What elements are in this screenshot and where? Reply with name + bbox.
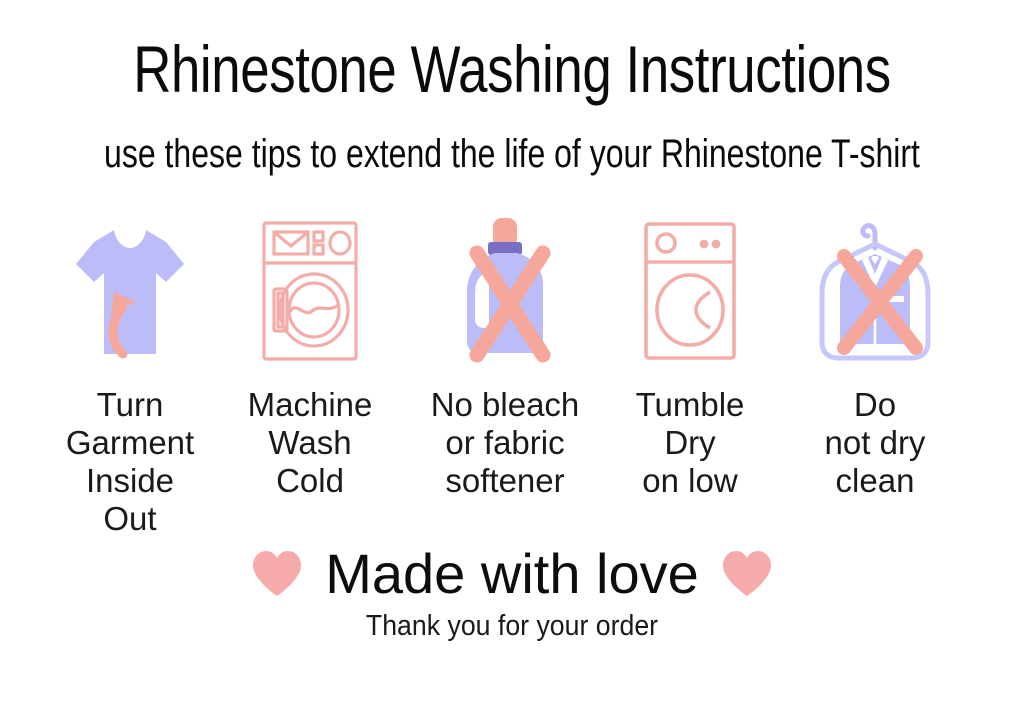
icon-cell-no-bleach (420, 208, 590, 373)
icon-cell-tumble-dry (605, 208, 775, 373)
washing-machine-icon (256, 217, 364, 365)
icon-cell-no-dry-clean (790, 208, 960, 373)
heart-icon (251, 550, 303, 598)
no-bleach-bottle-icon (443, 215, 567, 367)
instruction-icon-row (0, 208, 1024, 373)
icon-cell-machine-wash (225, 208, 395, 373)
made-with-love-row: Made with love (0, 538, 1024, 610)
tshirt-turn-inside-out-icon (70, 216, 190, 366)
instruction-label-no-dry-clean: Do not dry clean (765, 386, 985, 500)
icon-cell-turn-inside-out (45, 208, 215, 373)
page-subtitle: use these tips to extend the life of you… (102, 130, 921, 178)
heart-icon (721, 550, 773, 598)
instruction-label-row: Turn Garment Inside Out Machine Wash Col… (0, 386, 1024, 536)
instruction-label-machine-wash-cold: Machine Wash Cold (200, 386, 420, 500)
made-with-love-text: Made with love (325, 542, 699, 606)
thank-you-text: Thank you for your order (41, 608, 983, 644)
tumble-dryer-icon (638, 218, 742, 364)
page-title: Rhinestone Washing Instructions (102, 32, 921, 106)
washing-instructions-card: Rhinestone Washing Instructions use thes… (0, 0, 1024, 724)
no-dry-clean-icon (812, 214, 938, 368)
